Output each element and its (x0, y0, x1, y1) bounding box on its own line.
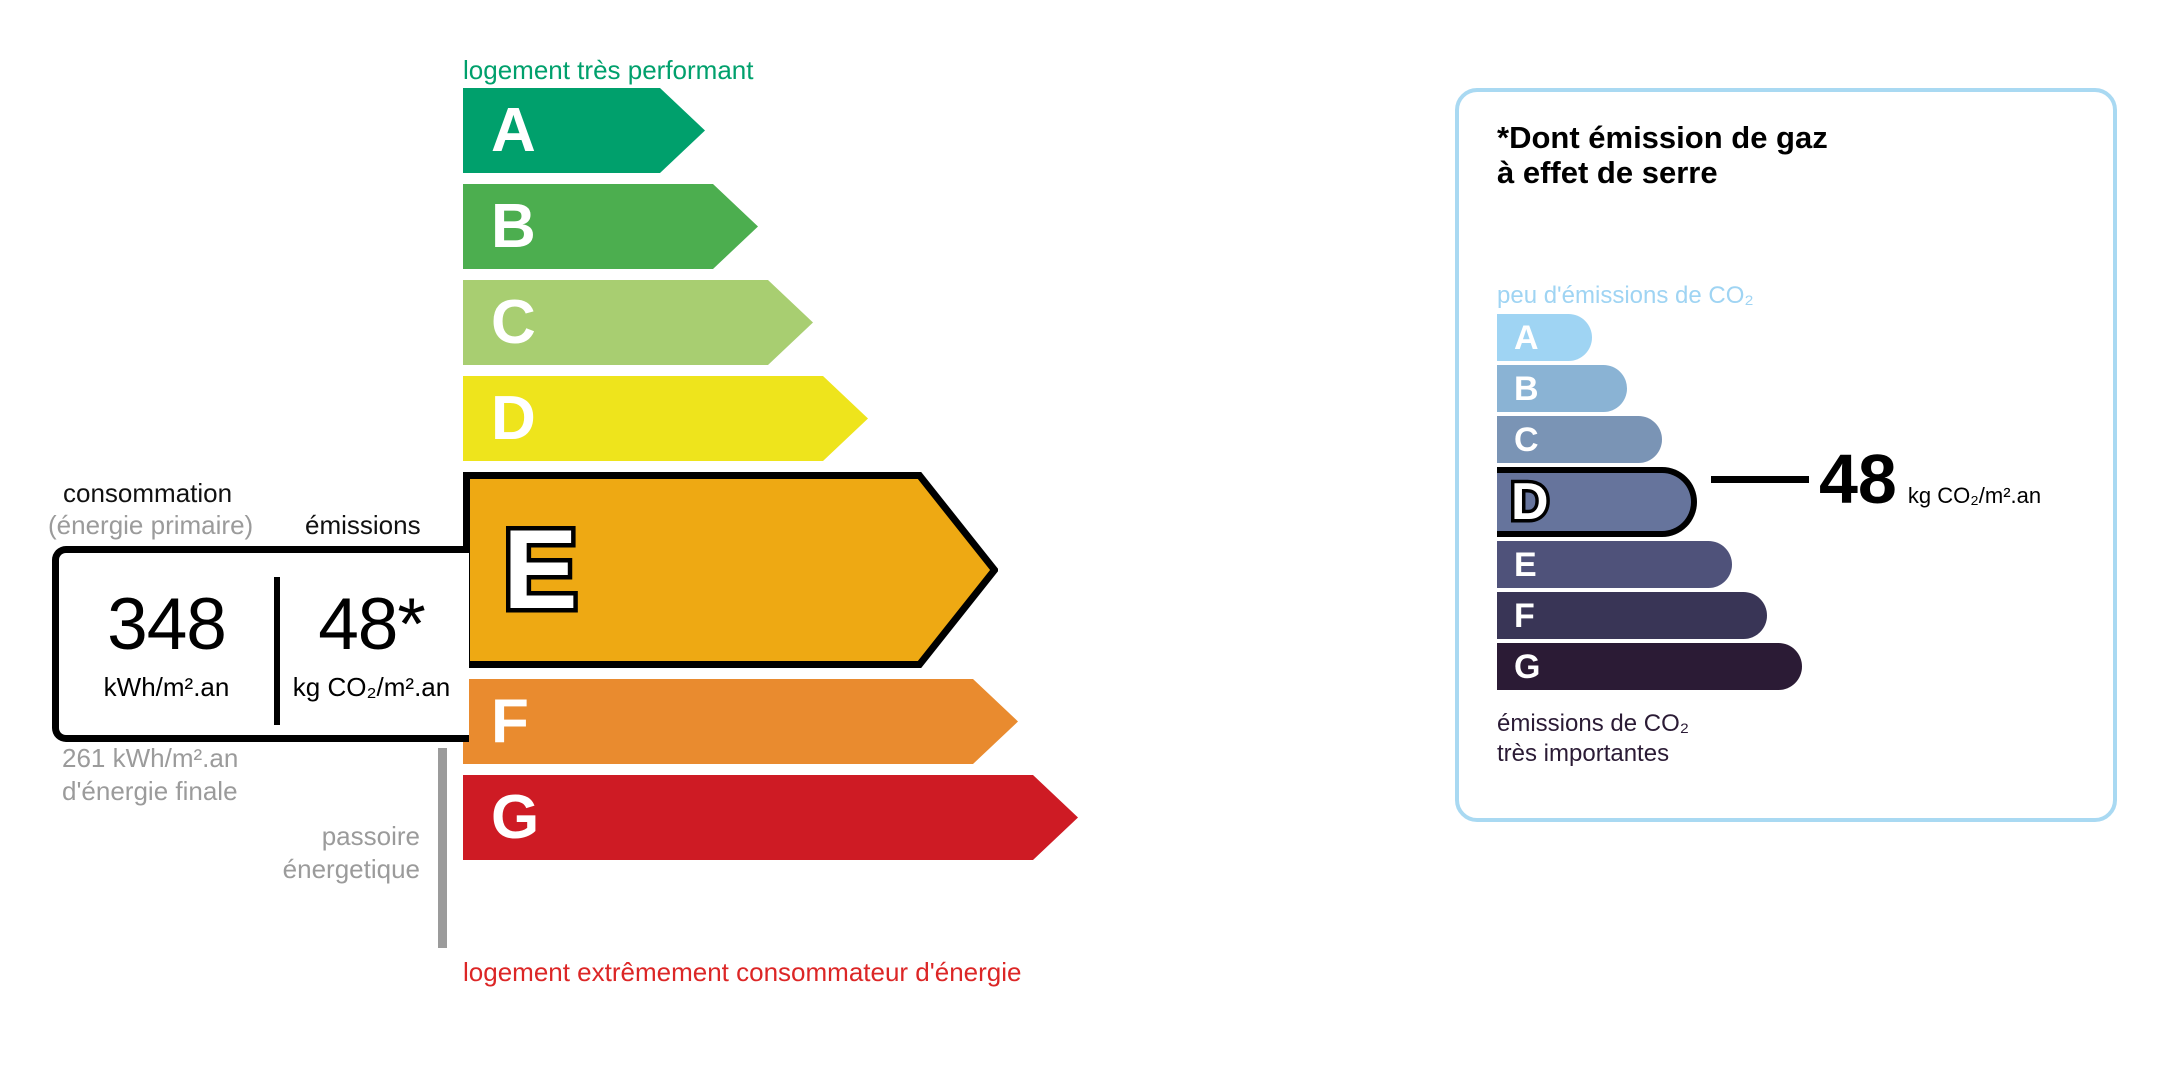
value-readout-box: 348 kWh/m².an 48* kg CO₂/m².an (52, 546, 469, 742)
co2-bar-letter: A (1514, 321, 1539, 355)
co2-bar-a: A (1497, 314, 1592, 361)
emission-value: 48* (318, 588, 425, 661)
co2-bar-letter: B (1514, 372, 1539, 406)
energy-band-arrow-shape (463, 775, 1078, 860)
energy-band-d: D (463, 376, 868, 461)
consumption-value: 348 (107, 588, 226, 661)
co2-bottom-caption: émissions de CO₂ très importantes (1497, 709, 1689, 769)
energy-bottom-caption: logement extrêmement consommateur d'éner… (463, 957, 1021, 988)
co2-bar-letter: G (1514, 650, 1540, 684)
co2-bar-b: B (1497, 365, 1627, 412)
co2-bar-letter: D (1511, 476, 1549, 528)
consumption-unit: kWh/m².an (104, 674, 230, 700)
dpe-energy-label: logement très performant ABCDEFG logemen… (0, 0, 2169, 1079)
energy-band-g: G (463, 775, 1078, 860)
co2-value-annotation: 48 kg CO₂/m².an (1819, 444, 2041, 514)
co2-bar-d: D (1497, 467, 1697, 537)
consumption-label: consommation (63, 478, 232, 509)
energy-performance-diagram: logement très performant ABCDEFG logemen… (0, 0, 1360, 1079)
final-energy-label: 261 kWh/m².an d'énergie finale (62, 742, 238, 809)
co2-panel-title: *Dont émission de gaz à effet de serre (1497, 120, 1828, 191)
co2-bar-letter: F (1514, 599, 1535, 633)
energy-band-letter: E (503, 514, 578, 626)
energy-band-letter: A (491, 100, 536, 162)
co2-bar-e: E (1497, 541, 1732, 588)
energy-band-a: A (463, 88, 705, 173)
energy-band-b: B (463, 184, 758, 269)
co2-emission-panel: *Dont émission de gaz à effet de serre p… (1455, 88, 2117, 822)
emissions-label: émissions (305, 510, 421, 541)
co2-bar-c: C (1497, 416, 1662, 463)
energy-band-c: C (463, 280, 813, 365)
co2-value: 48 (1819, 444, 1897, 514)
co2-bar-g: G (1497, 643, 1802, 690)
co2-bar-list: ABCDEFG (1497, 314, 1802, 694)
co2-leader-line (1711, 476, 1809, 483)
energy-top-caption: logement très performant (463, 55, 753, 86)
energy-band-f: F (463, 679, 1018, 764)
consumption-sublabel: (énergie primaire) (48, 510, 253, 541)
energy-band-e: E (463, 472, 998, 668)
co2-bar-letter: E (1514, 548, 1537, 582)
energy-band-letter: G (491, 787, 539, 849)
energy-band-letter: B (491, 196, 536, 258)
co2-bar-f: F (1497, 592, 1767, 639)
passoire-energetique-bar (438, 748, 447, 948)
co2-bar-letter: C (1514, 423, 1539, 457)
emission-unit: kg CO₂/m².an (293, 674, 450, 700)
emission-value-cell: 48* kg CO₂/m².an (274, 553, 469, 735)
energy-band-letter: C (491, 292, 536, 354)
energy-band-arrow-shape (463, 679, 1018, 764)
consumption-value-cell: 348 kWh/m².an (59, 553, 274, 735)
co2-top-caption: peu d'émissions de CO₂ (1497, 282, 1754, 310)
co2-unit: kg CO₂/m².an (1908, 483, 2041, 509)
energy-band-letter: D (491, 388, 536, 450)
energy-band-letter: F (491, 691, 529, 753)
passoire-energetique-label: passoire énergetique (0, 820, 420, 887)
